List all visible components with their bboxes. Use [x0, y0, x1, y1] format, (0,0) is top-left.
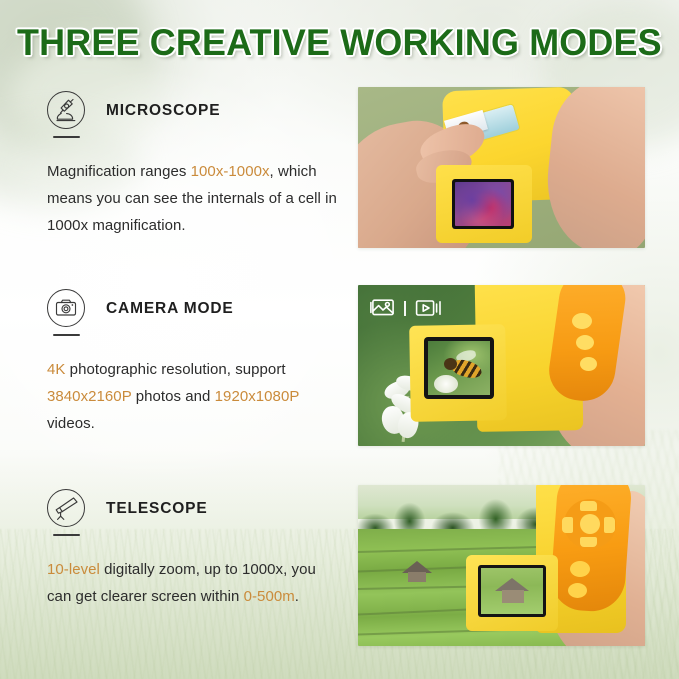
camera-icon [48, 290, 84, 326]
highlighted-spec: 10-level [47, 561, 100, 578]
icon-circle-outline [47, 489, 85, 527]
camera-icon-badge [47, 289, 87, 329]
section-camera-body: 4K photographic resolution, support 3840… [47, 356, 337, 437]
lcd-hut-wall [502, 590, 524, 603]
section-microscope-body: Magnification ranges 100x-1000x, which m… [47, 158, 337, 239]
icon-circle-outline [47, 289, 85, 327]
body-text: photos and [131, 388, 214, 405]
section-camera-title: CAMERA MODE [106, 300, 234, 318]
microscope-icon-badge [47, 91, 87, 131]
lcd-landscape-image [481, 568, 543, 614]
microscope-icon [48, 92, 84, 128]
body-text: . [295, 588, 299, 605]
camcorder-lcd-screen [452, 179, 514, 229]
dpad-right [604, 517, 615, 533]
camcorder-button [576, 335, 594, 350]
lcd-bee-head [444, 358, 457, 370]
page-title-wrap: THREE CREATIVE WORKING MODES [0, 22, 679, 64]
overlay-divider [404, 301, 406, 316]
camcorder-button [572, 313, 592, 329]
highlighted-spec: 0-500m [244, 588, 295, 605]
lcd-bee-image [428, 341, 490, 395]
body-text: photographic resolution, support [65, 361, 285, 378]
section-microscope-title: MICROSCOPE [106, 102, 220, 120]
section-telescope-body: 10-level digitally zoom, up to 1000x, yo… [47, 556, 337, 610]
section-telescope-header: TELESCOPE [47, 485, 337, 533]
lcd-cell-image [455, 182, 511, 226]
microscope-demo-photo [358, 87, 645, 248]
highlighted-spec: 1920x1080P [215, 388, 299, 405]
video-mode-icon[interactable] [414, 297, 444, 319]
icon-underline [53, 136, 80, 138]
highlighted-spec: 3840x2160P [47, 388, 131, 405]
camcorder-button [570, 561, 590, 577]
section-telescope-text: TELESCOPE 10-level digitally zoom, up to… [47, 485, 337, 610]
telescope-demo-photo [358, 485, 645, 646]
camcorder-lcd-screen [478, 565, 546, 617]
highlighted-spec: 4K [47, 361, 65, 378]
section-microscope-text: MICROSCOPE Magnification ranges 100x-100… [47, 87, 337, 239]
body-text: videos. [47, 415, 95, 432]
telescope-icon-badge [47, 489, 87, 529]
field-hut [402, 561, 432, 583]
camcorder-button [580, 357, 597, 371]
icon-underline [53, 334, 80, 336]
camcorder-lcd-screen [424, 337, 494, 399]
section-microscope-header: MICROSCOPE [47, 87, 337, 135]
lcd-flower [434, 375, 458, 393]
dpad-up [580, 501, 597, 511]
dpad-left [562, 517, 573, 533]
body-text: Magnification ranges [47, 163, 191, 180]
hut-wall [408, 572, 426, 582]
page-title: THREE CREATIVE WORKING MODES [17, 22, 662, 64]
section-camera-text: CAMERA MODE 4K photographic resolution, … [47, 285, 337, 437]
section-camera-header: CAMERA MODE [47, 285, 337, 333]
mode-overlay-icons [370, 297, 444, 319]
camera-mode-demo-photo [358, 285, 645, 446]
dpad-down [580, 537, 597, 547]
section-telescope-title: TELESCOPE [106, 500, 208, 518]
infographic-page: THREE CREATIVE WORKING MODES [0, 0, 679, 679]
photo-mode-icon[interactable] [370, 297, 396, 319]
icon-underline [53, 534, 80, 536]
highlighted-spec: 100x-1000x [191, 163, 270, 180]
icon-circle-outline [47, 91, 85, 129]
telescope-icon [48, 490, 84, 526]
camcorder-button [568, 583, 587, 598]
